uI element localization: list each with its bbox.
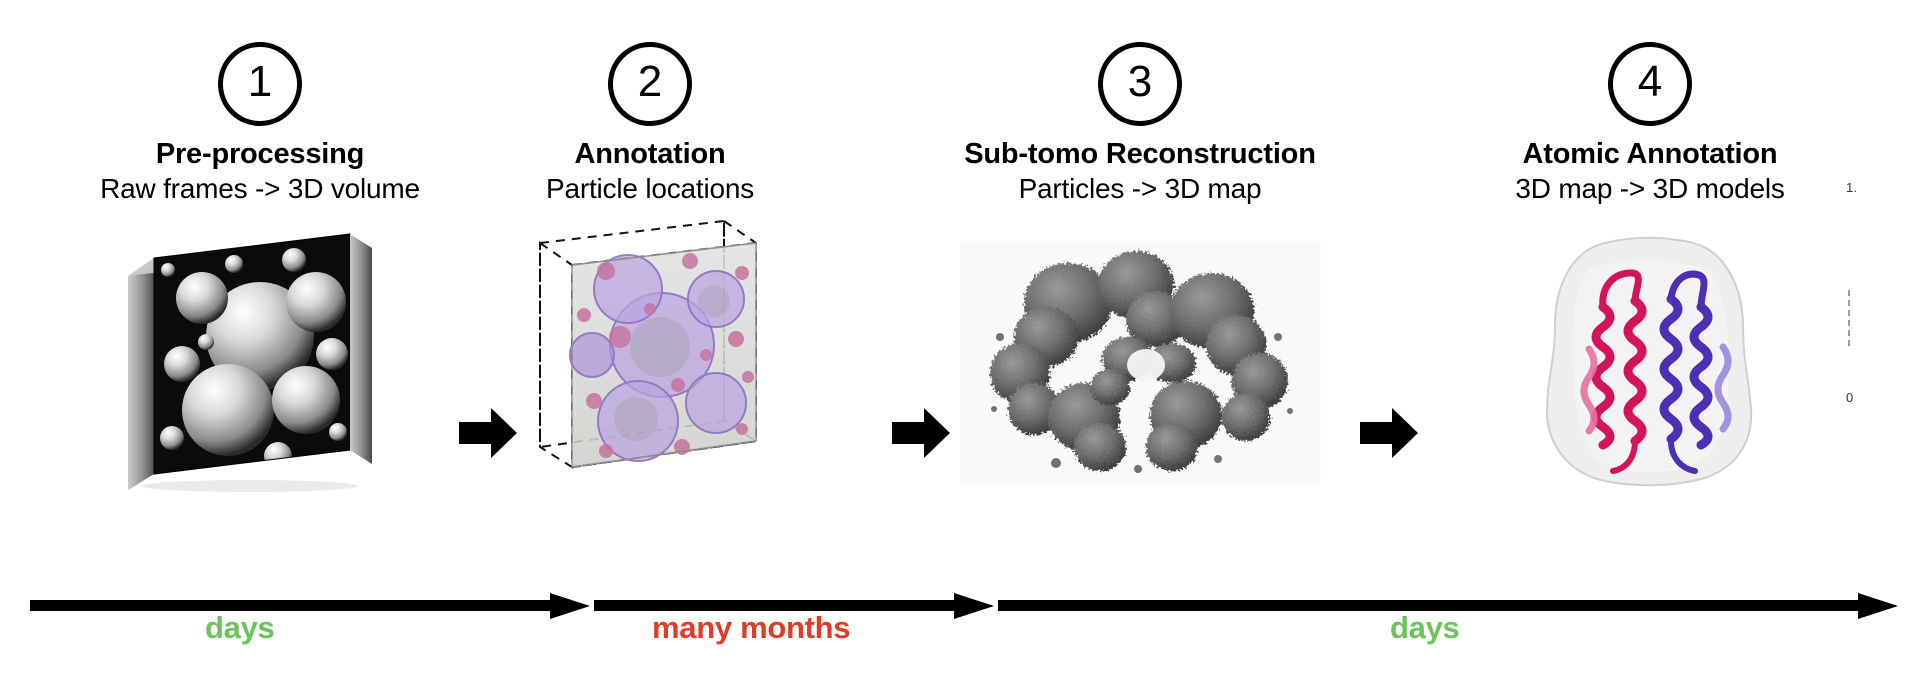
step-3-subtitle: Particles -> 3D map	[890, 173, 1390, 205]
step-2-number: 2	[638, 60, 662, 104]
cryoem-density-map	[890, 238, 1390, 488]
timeline-segment-days-1	[30, 592, 590, 622]
step-1: 1 Pre-processing Raw frames -> 3D volume	[40, 0, 480, 620]
step-4-number-badge: 4	[1608, 42, 1692, 126]
cryoem-density-map-svg	[960, 241, 1320, 485]
step-1-title: Pre-processing	[40, 138, 480, 171]
step-2-number-badge: 2	[608, 42, 692, 126]
step-4: 4 Atomic Annotation 3D map -> 3D models	[1410, 0, 1890, 620]
step-3-number-badge: 3	[1098, 42, 1182, 126]
step-2-title: Annotation	[440, 138, 860, 171]
annotated-particle-box-svg	[510, 215, 790, 501]
step-3-title: Sub-tomo Reconstruction	[890, 138, 1390, 171]
timeline-label-1: days	[205, 610, 274, 646]
timeline-label-3: days	[1390, 610, 1459, 646]
colorbar-tick-bottom: 0	[1846, 390, 1853, 405]
colorbar-tick-top: 1.	[1846, 180, 1857, 195]
step-1-number: 1	[248, 60, 272, 104]
step-3: 3 Sub-tomo Reconstruction Particles -> 3…	[890, 0, 1390, 620]
step-3-number: 3	[1128, 60, 1152, 104]
step-4-subtitle: 3D map -> 3D models	[1410, 173, 1890, 205]
step-2: 2 Annotation Particle locations	[440, 0, 860, 620]
step-2-header: 2 Annotation Particle locations	[440, 42, 860, 205]
workflow-diagram: 1 Pre-processing Raw frames -> 3D volume	[0, 0, 1920, 700]
atomic-model-in-density	[1410, 228, 1890, 498]
step-2-subtitle: Particle locations	[440, 173, 860, 205]
timeline-arrow-1	[30, 592, 590, 622]
annotated-particle-box	[440, 218, 860, 498]
tomogram-volume-svg	[110, 224, 410, 492]
step-1-number-badge: 1	[218, 42, 302, 126]
colorbar-track	[1848, 290, 1858, 346]
timeline-label-2: many months	[652, 610, 850, 646]
step-1-header: 1 Pre-processing Raw frames -> 3D volume	[40, 42, 480, 205]
step-1-subtitle: Raw frames -> 3D volume	[40, 173, 480, 205]
step-3-header: 3 Sub-tomo Reconstruction Particles -> 3…	[890, 42, 1390, 205]
step-4-title: Atomic Annotation	[1410, 138, 1890, 171]
atomic-model-svg	[1485, 229, 1815, 497]
step-4-header: 4 Atomic Annotation 3D map -> 3D models	[1410, 42, 1890, 205]
tomogram-volume-render	[40, 228, 480, 488]
step-4-number: 4	[1638, 60, 1662, 104]
